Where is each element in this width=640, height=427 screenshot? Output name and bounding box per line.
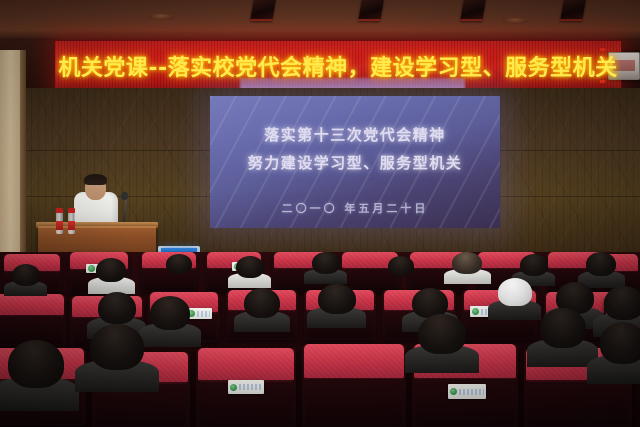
audience-seating xyxy=(0,252,640,427)
attendee-head xyxy=(8,340,64,388)
attendee-head xyxy=(604,286,640,320)
projection-screen: 落实第十三次党代会精神 努力建设学习型、服务型机关 二〇一〇 年五月二十日 xyxy=(210,96,500,228)
attendee-head xyxy=(520,254,548,276)
ceiling xyxy=(0,0,640,40)
slide-line-1: 落实第十三次党代会精神 xyxy=(210,124,500,145)
seat-cushion xyxy=(198,348,294,382)
attendee-white-cap xyxy=(498,278,532,306)
institution-emblem-icon xyxy=(450,388,457,395)
institution-emblem-icon xyxy=(88,265,95,272)
ceiling-light-2-icon xyxy=(358,0,384,21)
microphone-icon xyxy=(121,192,128,200)
seat-label-text xyxy=(459,389,484,395)
institution-emblem-icon xyxy=(230,384,237,391)
institution-emblem-icon xyxy=(472,308,479,315)
water-bottle-1 xyxy=(56,212,63,234)
seat-label-text xyxy=(239,384,262,390)
attendee-head xyxy=(452,252,482,274)
attendee-head xyxy=(236,256,264,278)
auditorium-seat xyxy=(0,294,66,346)
bottle-label xyxy=(68,221,75,230)
speaker-hair xyxy=(84,174,107,185)
attendee-head xyxy=(318,284,356,314)
ceiling-dome-light-1-icon xyxy=(148,14,174,20)
attendee-head xyxy=(90,324,144,370)
ceiling-light-3-icon xyxy=(460,0,486,21)
ceiling-light-4-icon xyxy=(560,0,586,21)
attendee-head xyxy=(244,288,280,318)
attendee-head xyxy=(586,252,616,276)
seat-cushion xyxy=(0,294,64,317)
bottle-cap xyxy=(56,208,63,213)
seat-number-label xyxy=(228,380,264,394)
attendee-head xyxy=(600,322,640,364)
ceiling-dome-light-2-icon xyxy=(502,18,528,24)
attendee-head xyxy=(96,258,126,282)
attendee-head xyxy=(418,314,466,354)
auditorium-photo: 机关党课--落实校党代会精神，建设学习型、服务型机关 落实第十三次党代会精神 努… xyxy=(0,0,640,427)
attendee-head xyxy=(166,254,192,274)
seat-number-label xyxy=(448,384,486,399)
left-wall-edge xyxy=(20,50,26,265)
ceiling-light-1-icon xyxy=(250,0,276,21)
attendee-head xyxy=(540,308,586,348)
water-bottle-2 xyxy=(68,212,75,234)
bottle-label xyxy=(56,221,63,230)
auditorium-seat xyxy=(302,344,406,427)
led-banner: 机关党课--落实校党代会精神，建设学习型、服务型机关 xyxy=(54,40,622,92)
attendee-head xyxy=(98,292,136,324)
attendee-head xyxy=(388,256,414,276)
attendee-head xyxy=(312,252,340,274)
seat-cushion xyxy=(304,344,404,380)
attendee-head xyxy=(12,264,40,286)
slide-line-2: 努力建设学习型、服务型机关 xyxy=(210,152,500,173)
seat-back-panel xyxy=(306,379,402,426)
seat-label-text xyxy=(197,311,210,317)
slide-date-line: 二〇一〇 年五月二十日 xyxy=(210,200,500,216)
bottle-cap xyxy=(68,208,75,213)
seat-back-panel xyxy=(528,382,628,426)
attendee-head xyxy=(150,296,190,330)
seat-back-panel xyxy=(344,269,396,290)
led-banner-text: 机关党课--落实校党代会精神，建设学习型、服务型机关 xyxy=(58,50,617,82)
